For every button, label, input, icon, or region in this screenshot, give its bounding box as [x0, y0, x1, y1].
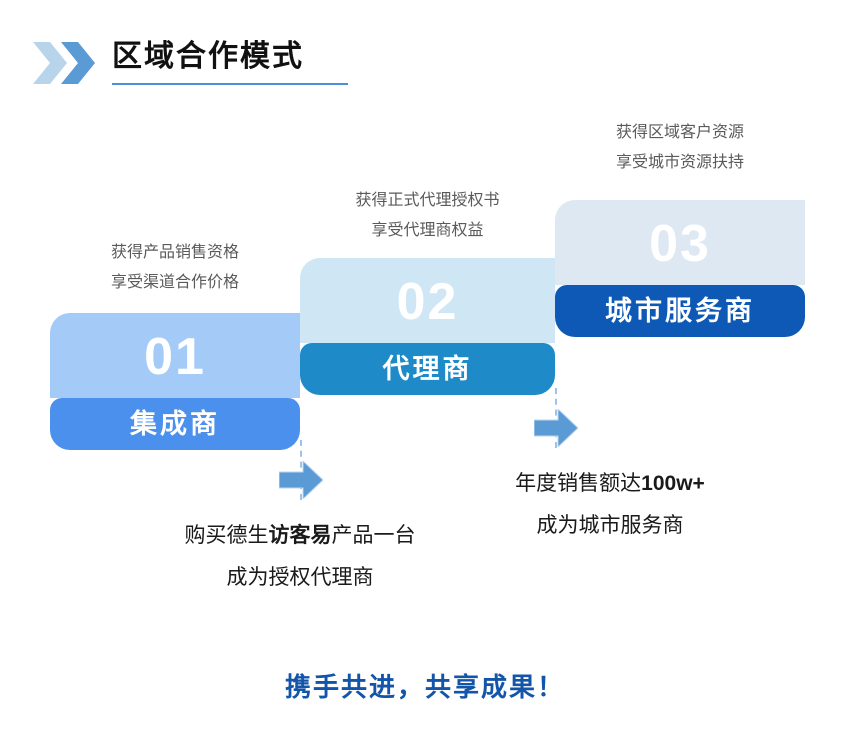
step-caption-03: 获得区域客户资源 享受城市资源扶持 — [555, 118, 805, 178]
flow-note-1-suffix: 产品一台 — [332, 524, 416, 547]
step-label-01: 集成商 — [130, 409, 220, 439]
step-caption-03-line-1: 获得区域客户资源 — [555, 118, 805, 148]
step-caption-01-line-2: 享受渠道合作价格 — [50, 268, 300, 298]
step-label-02: 代理商 — [383, 354, 473, 384]
partnership-tier-diagram: 获得产品销售资格 享受渠道合作价格 01 集成商 获得正式代理授权书 享受代理商… — [0, 0, 850, 737]
step-number-01: 01 — [50, 329, 300, 385]
footer-slogan: 携手共进，共享成果！ — [0, 670, 850, 704]
flow-note-1-line-1: 购买德生访客易产品一台 — [155, 515, 445, 557]
step-caption-03-line-2: 享受城市资源扶持 — [555, 148, 805, 178]
flow-note-1-line-2: 成为授权代理商 — [155, 557, 445, 599]
step-bar-02: 代理商 — [300, 343, 555, 395]
flow-note-2-prefix: 年度销售额达 — [515, 472, 641, 495]
step-caption-02-line-2: 享受代理商权益 — [300, 216, 555, 246]
arrow-right-icon-2 — [534, 409, 578, 447]
step-caption-01: 获得产品销售资格 享受渠道合作价格 — [50, 238, 300, 298]
step-number-02: 02 — [300, 274, 555, 330]
step-label-03: 城市服务商 — [605, 296, 755, 326]
step-card-01[interactable]: 01 集成商 — [50, 313, 300, 450]
arrow-right-icon-1 — [279, 461, 323, 499]
flow-note-2-highlight: 100w+ — [641, 472, 705, 495]
step-number-03: 03 — [555, 216, 805, 272]
step-caption-01-line-1: 获得产品销售资格 — [50, 238, 300, 268]
step-bar-03: 城市服务商 — [555, 285, 805, 337]
flow-note-2: 年度销售额达100w+ 成为城市服务商 — [465, 463, 755, 547]
flow-note-1-prefix: 购买德生 — [185, 524, 269, 547]
step-caption-02-line-1: 获得正式代理授权书 — [300, 186, 555, 216]
step-card-02[interactable]: 02 代理商 — [300, 258, 555, 395]
step-bar-01: 集成商 — [50, 398, 300, 450]
step-card-03[interactable]: 03 城市服务商 — [555, 200, 805, 337]
flow-note-1-highlight: 访客易 — [269, 524, 332, 547]
flow-note-2-line-1: 年度销售额达100w+ — [465, 463, 755, 505]
flow-note-1: 购买德生访客易产品一台 成为授权代理商 — [155, 515, 445, 599]
step-caption-02: 获得正式代理授权书 享受代理商权益 — [300, 186, 555, 246]
flow-note-2-line-2: 成为城市服务商 — [465, 505, 755, 547]
